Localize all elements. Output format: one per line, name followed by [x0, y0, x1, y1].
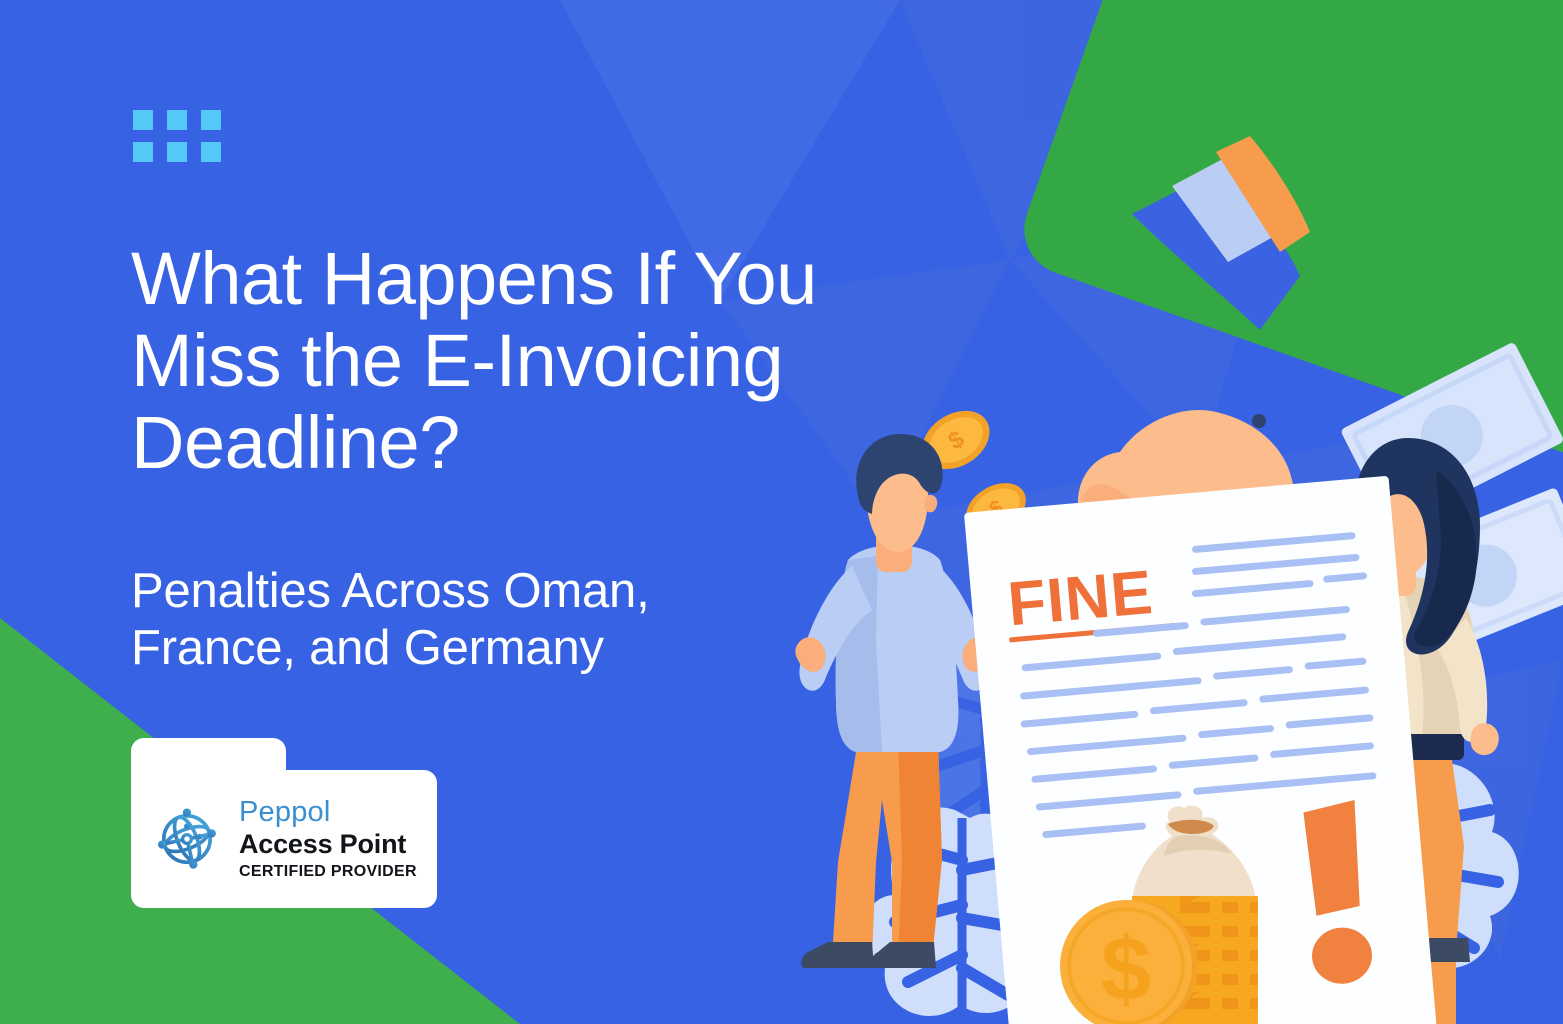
- badge-brand: Peppol: [239, 798, 417, 827]
- fine-penalty-illustration: $ $: [780, 0, 1563, 1024]
- dot-1: [133, 110, 153, 130]
- blog-hero-banner: What Happens If You Miss the E-Invoicing…: [0, 0, 1563, 1024]
- badge-product: Access Point: [239, 831, 417, 858]
- badge-content: Peppol Access Point CERTIFIED PROVIDER: [131, 770, 437, 908]
- dot-5: [167, 142, 187, 162]
- page-title: What Happens If You Miss the E-Invoicing…: [131, 238, 891, 484]
- peppol-network-globe-icon: [147, 799, 227, 879]
- peppol-certified-badge: Peppol Access Point CERTIFIED PROVIDER: [131, 738, 437, 908]
- badge-text-block: Peppol Access Point CERTIFIED PROVIDER: [239, 798, 417, 880]
- badge-certification: CERTIFIED PROVIDER: [239, 864, 417, 880]
- dot-6: [201, 142, 221, 162]
- six-dots-grid-icon: [133, 110, 221, 162]
- coin-dollar-symbol: $: [1101, 920, 1151, 1020]
- dot-2: [167, 110, 187, 130]
- dot-4: [133, 142, 153, 162]
- page-subtitle: Penalties Across Oman, France, and Germa…: [131, 563, 891, 678]
- gold-coin-front: $: [1060, 900, 1198, 1024]
- dot-3: [201, 110, 221, 130]
